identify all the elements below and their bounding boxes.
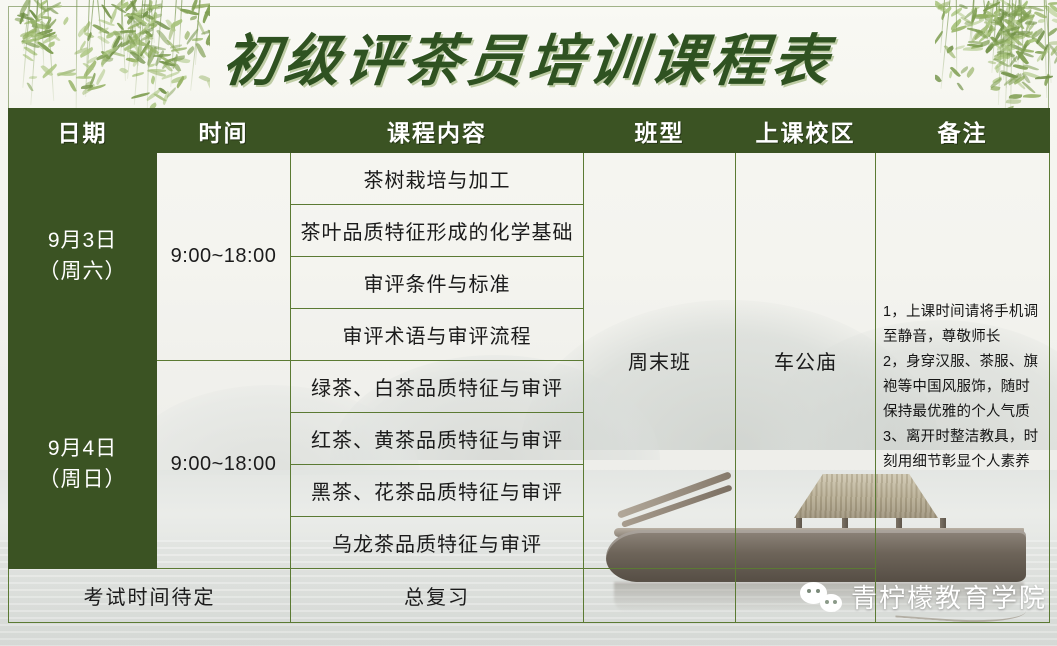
review-cell: 总复习 bbox=[291, 569, 584, 623]
empty-cell-classtype bbox=[584, 569, 736, 623]
date-weekday: （周六） bbox=[15, 257, 150, 287]
wechat-account[interactable]: 青柠檬教育学院 bbox=[800, 578, 1047, 615]
time-cell-day1: 9:00~18:00 bbox=[157, 153, 291, 361]
remark-line: 2，身穿汉服、茶服、旗袍等中国风服饰，随时保持最优雅的个人气质 bbox=[883, 350, 1042, 425]
wechat-icon bbox=[800, 582, 842, 612]
class-type-cell: 周末班 bbox=[584, 153, 736, 569]
wechat-account-name: 青柠檬教育学院 bbox=[851, 578, 1047, 615]
column-header-remark: 备注 bbox=[876, 109, 1050, 153]
wechat-dot bbox=[833, 600, 837, 604]
date-main: 9月3日 bbox=[48, 229, 117, 252]
title-band: 初级评茶员培训课程表 bbox=[0, 0, 1057, 112]
column-header-date: 日期 bbox=[9, 109, 157, 153]
table-body: 9月3日 （周六） 9:00~18:00 茶树栽培与加工 周末班 车公庙 1，上… bbox=[9, 153, 1050, 623]
course-cell: 红茶、黄茶品质特征与审评 bbox=[291, 413, 584, 465]
column-header-time: 时间 bbox=[157, 109, 291, 153]
table-header: 日期 时间 课程内容 班型 上课校区 备注 bbox=[9, 109, 1050, 153]
course-cell: 茶树栽培与加工 bbox=[291, 153, 584, 205]
course-cell: 乌龙茶品质特征与审评 bbox=[291, 517, 584, 569]
header-row: 日期 时间 课程内容 班型 上课校区 备注 bbox=[9, 109, 1050, 153]
date-cell-day2: 9月4日 （周日） bbox=[9, 361, 157, 569]
date-cell-day1: 9月3日 （周六） bbox=[9, 153, 157, 361]
wechat-dot bbox=[807, 589, 811, 593]
time-cell-day2: 9:00~18:00 bbox=[157, 361, 291, 569]
campus-cell: 车公庙 bbox=[736, 153, 876, 569]
table-row: 9月3日 （周六） 9:00~18:00 茶树栽培与加工 周末班 车公庙 1，上… bbox=[9, 153, 1050, 205]
remark-line: 1，上课时间请将手机调至静音，尊敬师长 bbox=[883, 300, 1042, 350]
exam-time-cell: 考试时间待定 bbox=[9, 569, 291, 623]
course-cell: 黑茶、花茶品质特征与审评 bbox=[291, 465, 584, 517]
remark-cell: 1，上课时间请将手机调至静音，尊敬师长 2，身穿汉服、茶服、旗袍等中国风服饰，随… bbox=[876, 153, 1050, 623]
wechat-bubble-small bbox=[820, 594, 842, 612]
column-header-content: 课程内容 bbox=[291, 109, 584, 153]
column-header-campus: 上课校区 bbox=[736, 109, 876, 153]
course-cell: 审评术语与审评流程 bbox=[291, 309, 584, 361]
wechat-dot bbox=[816, 589, 820, 593]
date-main: 9月4日 bbox=[48, 437, 117, 460]
page-title: 初级评茶员培训课程表 bbox=[0, 16, 1057, 97]
wechat-dot bbox=[825, 600, 829, 604]
column-header-classtype: 班型 bbox=[584, 109, 736, 153]
course-cell: 茶叶品质特征形成的化学基础 bbox=[291, 205, 584, 257]
course-schedule-poster: 初级评茶员培训课程表 日期 时间 课程内容 班型 上课校区 备注 9月3日 （周… bbox=[0, 0, 1057, 646]
course-cell: 绿茶、白茶品质特征与审评 bbox=[291, 361, 584, 413]
schedule-table: 日期 时间 课程内容 班型 上课校区 备注 9月3日 （周六） 9:00~18:… bbox=[8, 108, 1050, 623]
date-weekday: （周日） bbox=[15, 465, 150, 495]
course-cell: 审评条件与标准 bbox=[291, 257, 584, 309]
remark-line: 3、离开时整洁教具，时刻用细节彰显个人素养 bbox=[883, 425, 1042, 475]
